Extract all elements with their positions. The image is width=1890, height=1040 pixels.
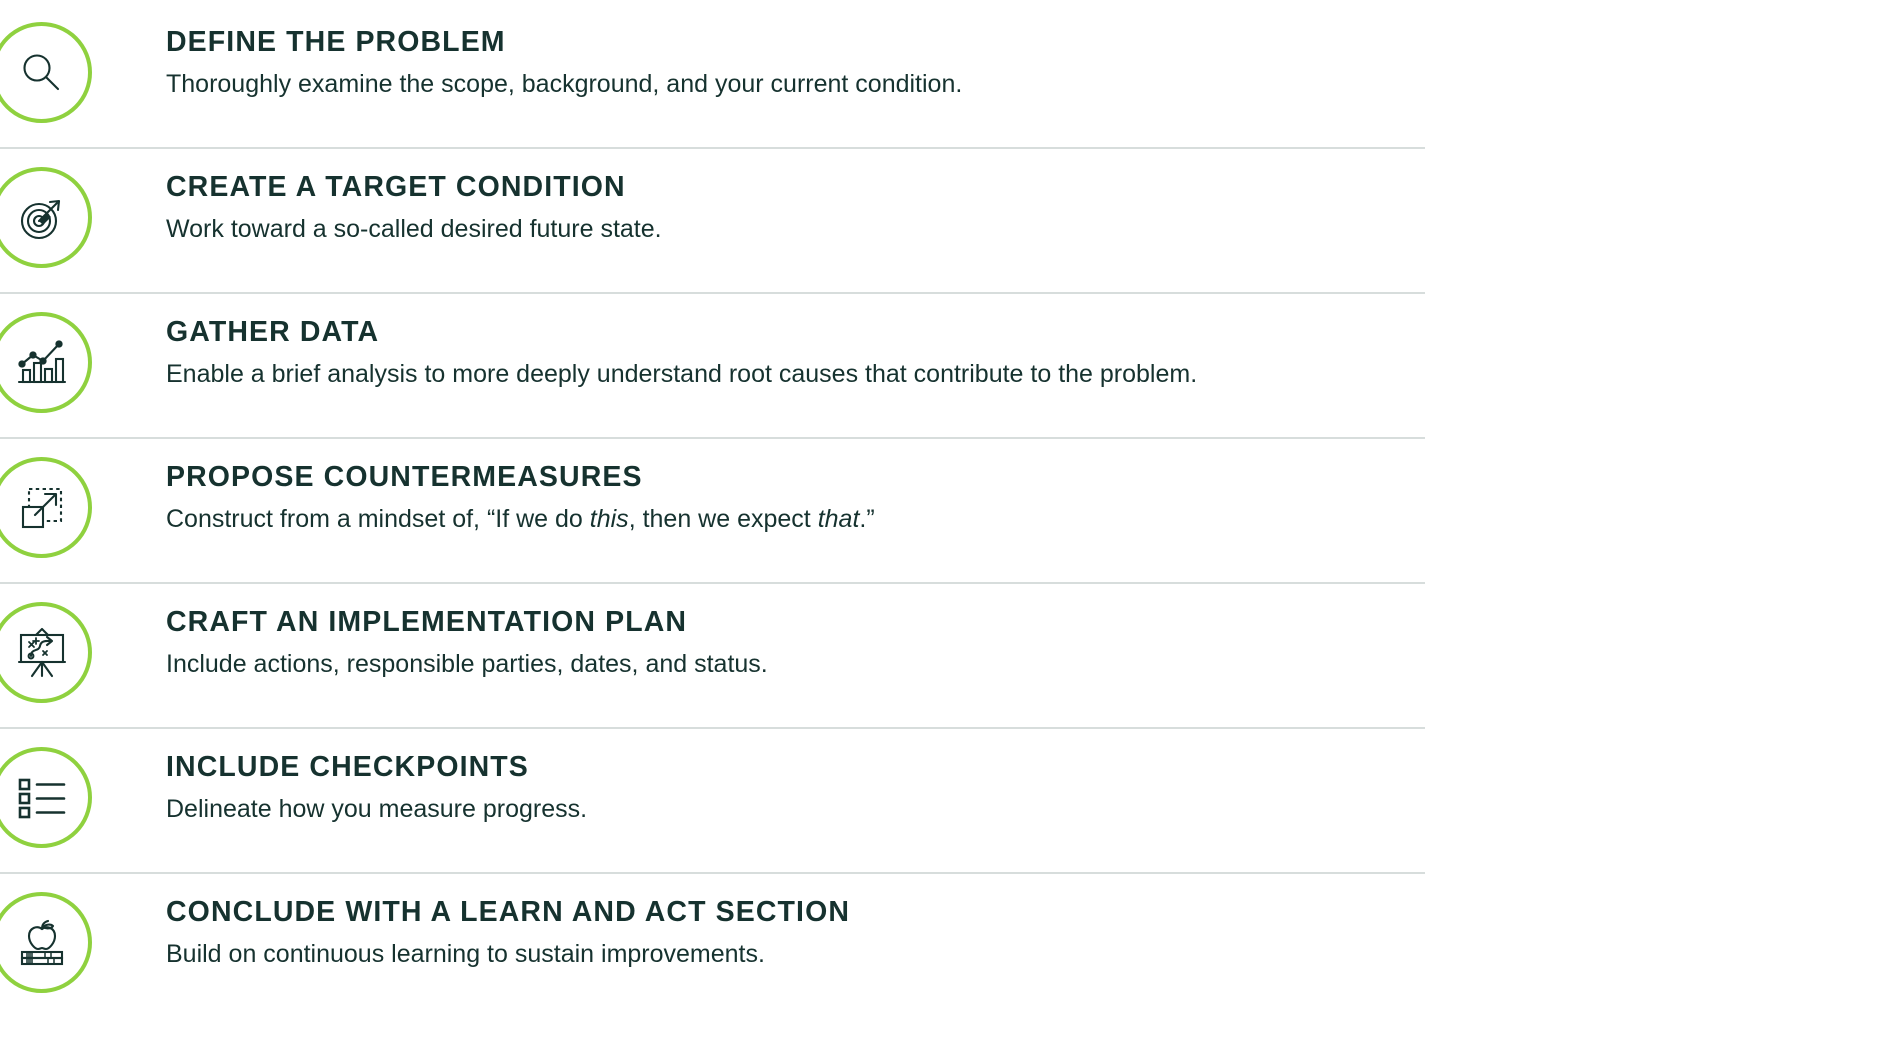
list-item: PROPOSE COUNTERMEASURES Construct from a…	[0, 437, 1425, 582]
step-description: Work toward a so-called desired future s…	[166, 213, 1425, 246]
step-text: INCLUDE CHECKPOINTS Delineate how you me…	[92, 727, 1425, 826]
step-text: GATHER DATA Enable a brief analysis to m…	[92, 292, 1425, 391]
list-item: CREATE A TARGET CONDITION Work toward a …	[0, 147, 1425, 292]
page-title: CREATE A TARGET CONDITION	[166, 171, 1425, 205]
page-title: DEFINE THE PROBLEM	[166, 26, 1425, 60]
step-description: Enable a brief analysis to more deeply u…	[166, 358, 1425, 391]
strategy-board-icon	[15, 626, 69, 680]
icon-badge	[0, 747, 92, 848]
step-description: Build on continuous learning to sustain …	[166, 938, 1425, 971]
icon-badge	[0, 167, 92, 268]
checklist-icon	[16, 776, 68, 820]
step-text: CREATE A TARGET CONDITION Work toward a …	[92, 147, 1425, 246]
list-item: GATHER DATA Enable a brief analysis to m…	[0, 292, 1425, 437]
icon-badge	[0, 22, 92, 123]
icon-badge	[0, 457, 92, 558]
step-description: Thoroughly examine the scope, background…	[166, 68, 1425, 101]
magnifier-icon	[17, 48, 67, 98]
step-text: CONCLUDE WITH A LEARN AND ACT SECTION Bu…	[92, 872, 1425, 971]
expand-square-arrow-icon	[17, 483, 67, 533]
target-arrow-icon	[16, 192, 68, 244]
step-description: Delineate how you measure progress.	[166, 793, 1425, 826]
step-text: DEFINE THE PROBLEM Thoroughly examine th…	[92, 2, 1425, 101]
icon-badge	[0, 312, 92, 413]
page-title: CONCLUDE WITH A LEARN AND ACT SECTION	[166, 896, 1425, 930]
apple-books-icon	[15, 916, 69, 970]
list-item: INCLUDE CHECKPOINTS Delineate how you me…	[0, 727, 1425, 872]
page-title: CRAFT AN IMPLEMENTATION PLAN	[166, 606, 1425, 640]
page-title: INCLUDE CHECKPOINTS	[166, 751, 1425, 785]
list-item: DEFINE THE PROBLEM Thoroughly examine th…	[0, 2, 1425, 147]
page-title: GATHER DATA	[166, 316, 1425, 350]
step-text: CRAFT AN IMPLEMENTATION PLAN Include act…	[92, 582, 1425, 681]
bar-chart-line-icon	[15, 338, 69, 388]
list-item: CRAFT AN IMPLEMENTATION PLAN Include act…	[0, 582, 1425, 727]
process-steps-list: DEFINE THE PROBLEM Thoroughly examine th…	[0, 0, 1890, 1040]
page-title: PROPOSE COUNTERMEASURES	[166, 461, 1425, 495]
step-description: Include actions, responsible parties, da…	[166, 648, 1425, 681]
icon-badge	[0, 892, 92, 993]
icon-badge	[0, 602, 92, 703]
step-text: PROPOSE COUNTERMEASURES Construct from a…	[92, 437, 1425, 536]
list-item: CONCLUDE WITH A LEARN AND ACT SECTION Bu…	[0, 872, 1425, 1017]
step-description: Construct from a mindset of, “If we do t…	[166, 503, 1425, 536]
